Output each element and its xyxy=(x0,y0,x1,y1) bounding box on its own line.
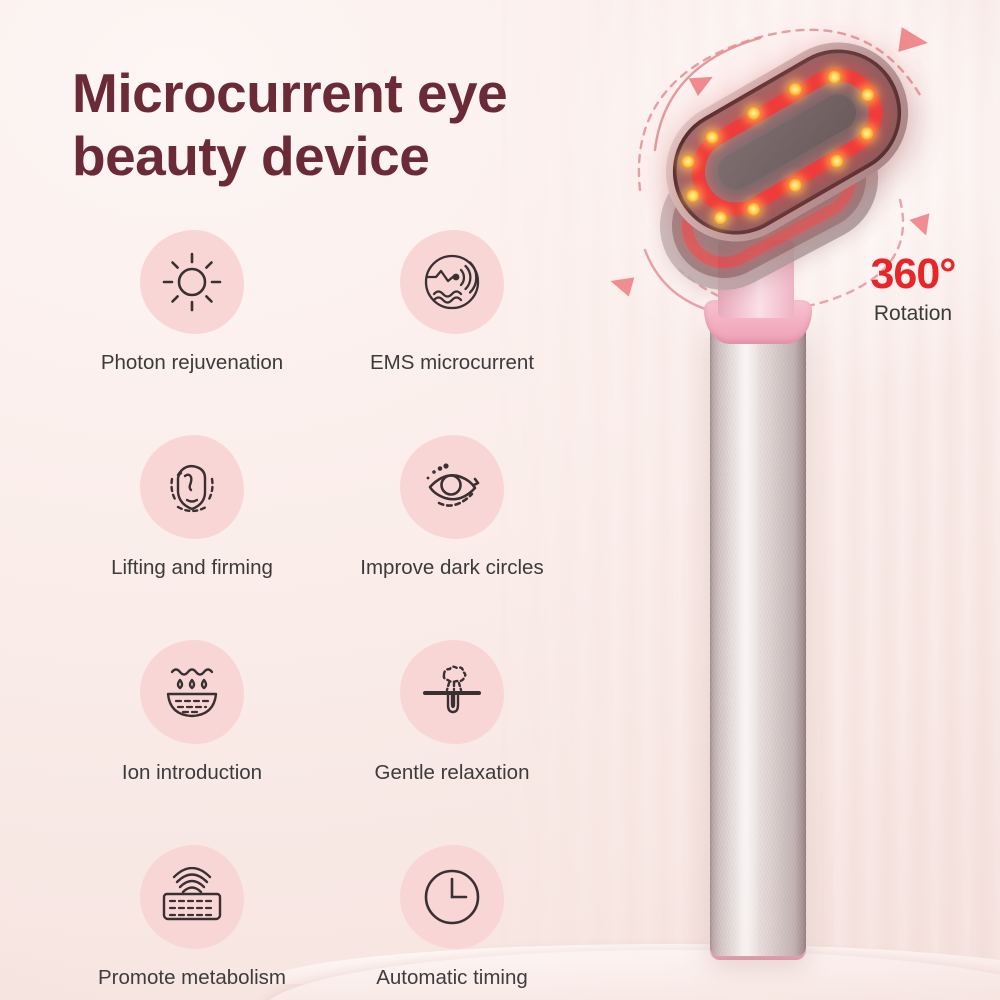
rotation-badge: 360° Rotation xyxy=(843,253,983,326)
feature-label: Gentle relaxation xyxy=(375,761,530,785)
product-device: 360° Rotation xyxy=(600,0,1000,1000)
feature-icon-badge xyxy=(400,230,504,334)
eye-icon xyxy=(419,457,485,517)
feature-item-lifting-and-firming: Lifting and firming xyxy=(62,435,322,580)
feature-item-promote-metabolism: Promote metabolism xyxy=(62,845,322,990)
ems-wave-icon xyxy=(420,250,484,314)
pore-steam-icon xyxy=(419,662,485,722)
feature-item-ion-introduction: Ion introduction xyxy=(62,640,322,785)
feature-item-photon-rejuvenation: Photon rejuvenation xyxy=(62,230,322,375)
feature-icon-badge xyxy=(400,845,504,949)
feature-item-gentle-relaxation: Gentle relaxation xyxy=(322,640,582,785)
feature-label: Photon rejuvenation xyxy=(101,351,283,375)
title-line-2: beauty device xyxy=(72,125,632,188)
feature-icon-badge xyxy=(400,435,504,539)
ion-droplets-icon xyxy=(159,662,225,722)
page-title: Microcurrent eye beauty device xyxy=(72,62,632,189)
rotation-value: 360° xyxy=(843,253,983,296)
feature-icon-badge xyxy=(140,845,244,949)
feature-list: Photon rejuvenation xyxy=(62,230,582,990)
rotation-label: Rotation xyxy=(843,302,983,326)
feature-item-improve-dark-circles: Improve dark circles xyxy=(322,435,582,580)
feature-label: Improve dark circles xyxy=(360,556,543,580)
title-line-1: Microcurrent eye xyxy=(72,62,632,125)
feature-icon-badge xyxy=(140,640,244,744)
feature-item-automatic-timing: Automatic timing xyxy=(322,845,582,990)
feature-item-ems-microcurrent: EMS microcurrent xyxy=(322,230,582,375)
feature-label: Automatic timing xyxy=(376,966,528,990)
skin-waves-icon xyxy=(159,867,225,927)
clock-icon xyxy=(421,866,483,928)
feature-icon-badge xyxy=(140,230,244,334)
handle-highlight xyxy=(710,322,806,956)
feature-icon-badge xyxy=(140,435,244,539)
feature-label: Lifting and firming xyxy=(111,556,273,580)
product-banner: Microcurrent eye beauty device xyxy=(0,0,1000,1000)
feature-label: Promote metabolism xyxy=(98,966,286,990)
feature-label: Ion introduction xyxy=(122,761,262,785)
sun-icon xyxy=(161,251,223,313)
device-handle xyxy=(710,322,806,956)
face-profile-icon xyxy=(160,455,224,519)
feature-label: EMS microcurrent xyxy=(370,351,534,375)
feature-icon-badge xyxy=(400,640,504,744)
